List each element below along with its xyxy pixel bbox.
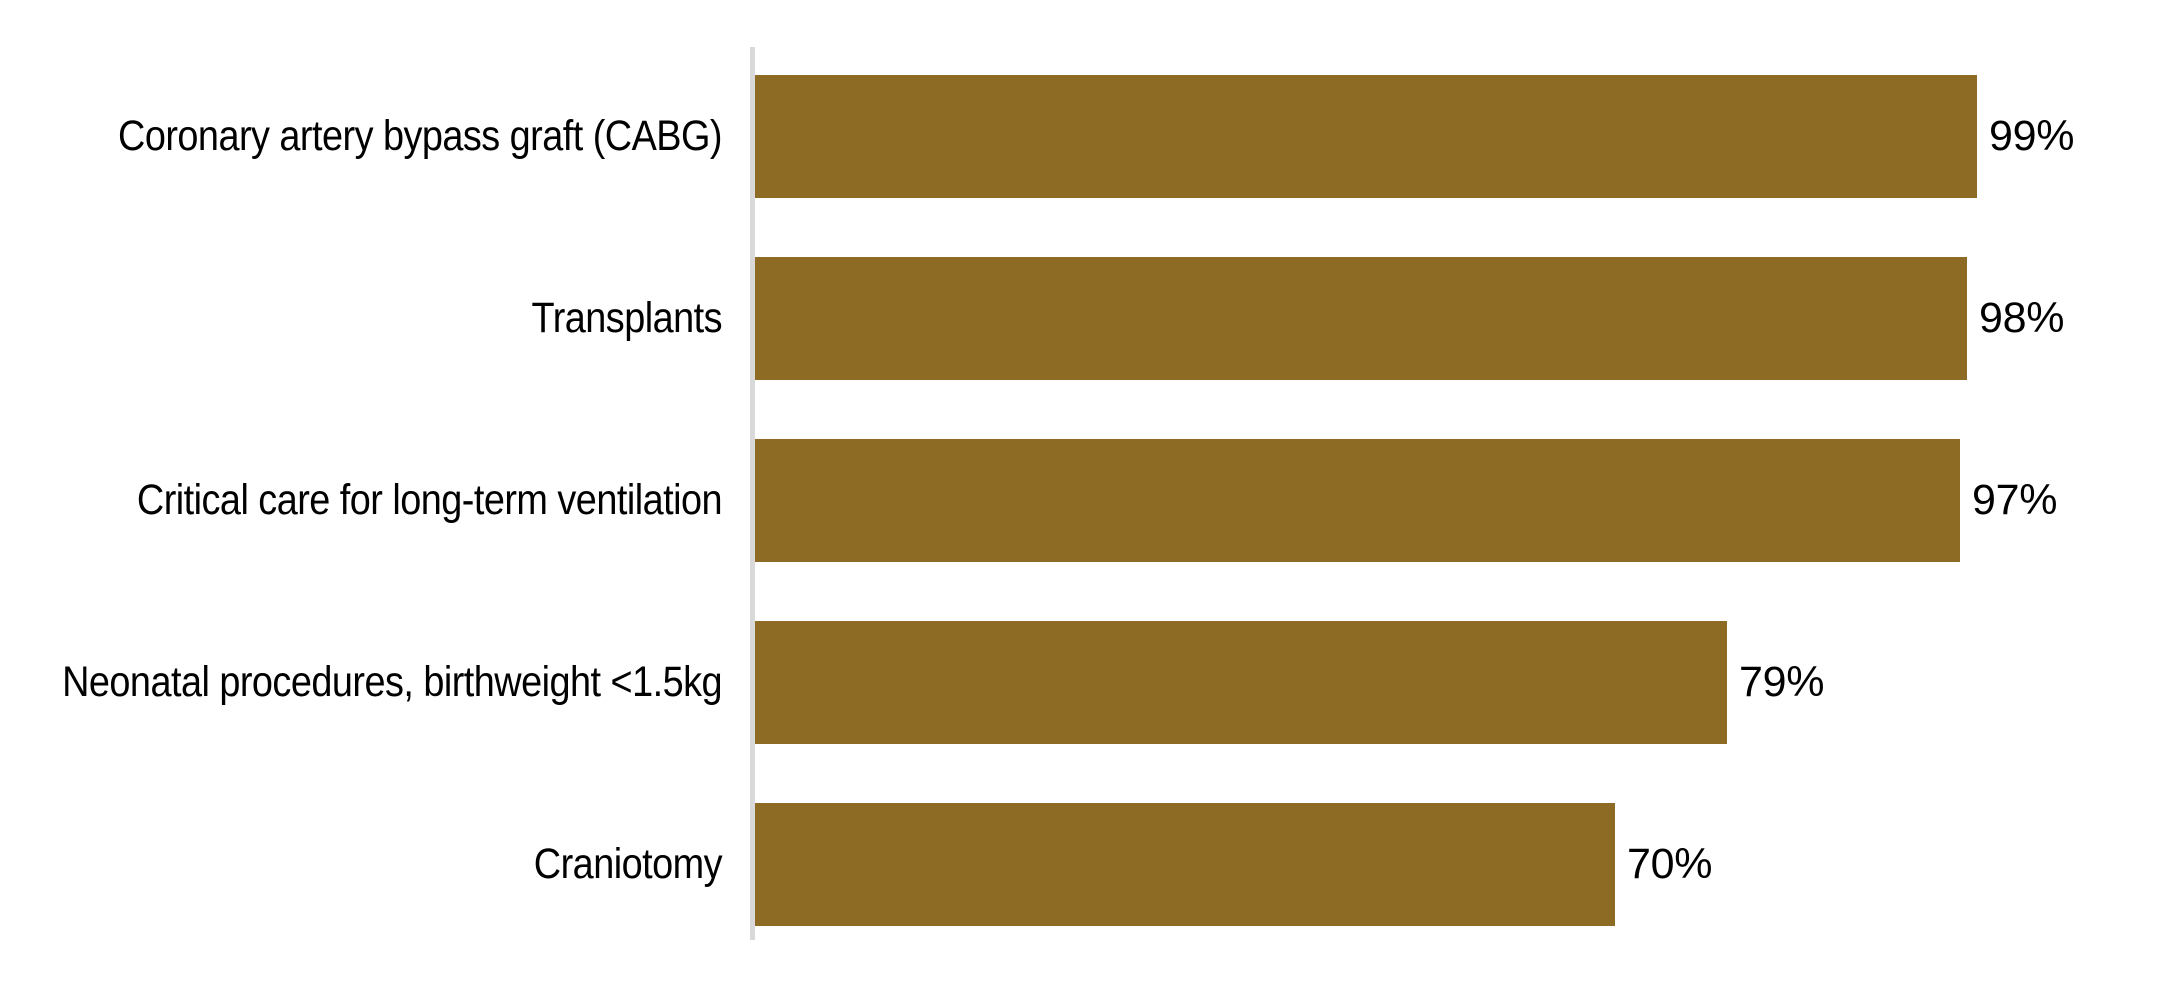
bar[interactable] xyxy=(755,803,1615,926)
bar-row: Transplants 98% xyxy=(0,228,2166,410)
bar-value-label: 99% xyxy=(1989,75,2074,198)
bar-row: Coronary artery bypass graft (CABG) 99% xyxy=(0,46,2166,228)
category-label: Coronary artery bypass graft (CABG) xyxy=(87,46,722,228)
bar-track: 97% xyxy=(755,439,1960,562)
category-label: Critical care for long-term ventilation xyxy=(87,410,722,592)
bar-track: 79% xyxy=(755,621,1727,744)
plot-area: Coronary artery bypass graft (CABG) 99% … xyxy=(0,0,2166,990)
bar-row: Neonatal procedures, birthweight <1.5kg … xyxy=(0,592,2166,774)
bar[interactable] xyxy=(755,439,1960,562)
bar[interactable] xyxy=(755,257,1967,380)
bar-row: Craniotomy 70% xyxy=(0,774,2166,956)
bar[interactable] xyxy=(755,621,1727,744)
category-label: Transplants xyxy=(87,228,722,410)
bar[interactable] xyxy=(755,75,1977,198)
category-label: Neonatal procedures, birthweight <1.5kg xyxy=(87,592,722,774)
bar-track: 70% xyxy=(755,803,1615,926)
bar-value-label: 70% xyxy=(1627,803,1712,926)
bar-track: 99% xyxy=(755,75,1977,198)
bar-chart: Coronary artery bypass graft (CABG) 99% … xyxy=(0,0,2166,990)
bar-value-label: 79% xyxy=(1739,621,1824,744)
bar-track: 98% xyxy=(755,257,1967,380)
bar-value-label: 97% xyxy=(1972,439,2057,562)
bar-value-label: 98% xyxy=(1979,257,2064,380)
category-label: Craniotomy xyxy=(87,774,722,956)
bar-row: Critical care for long-term ventilation … xyxy=(0,410,2166,592)
